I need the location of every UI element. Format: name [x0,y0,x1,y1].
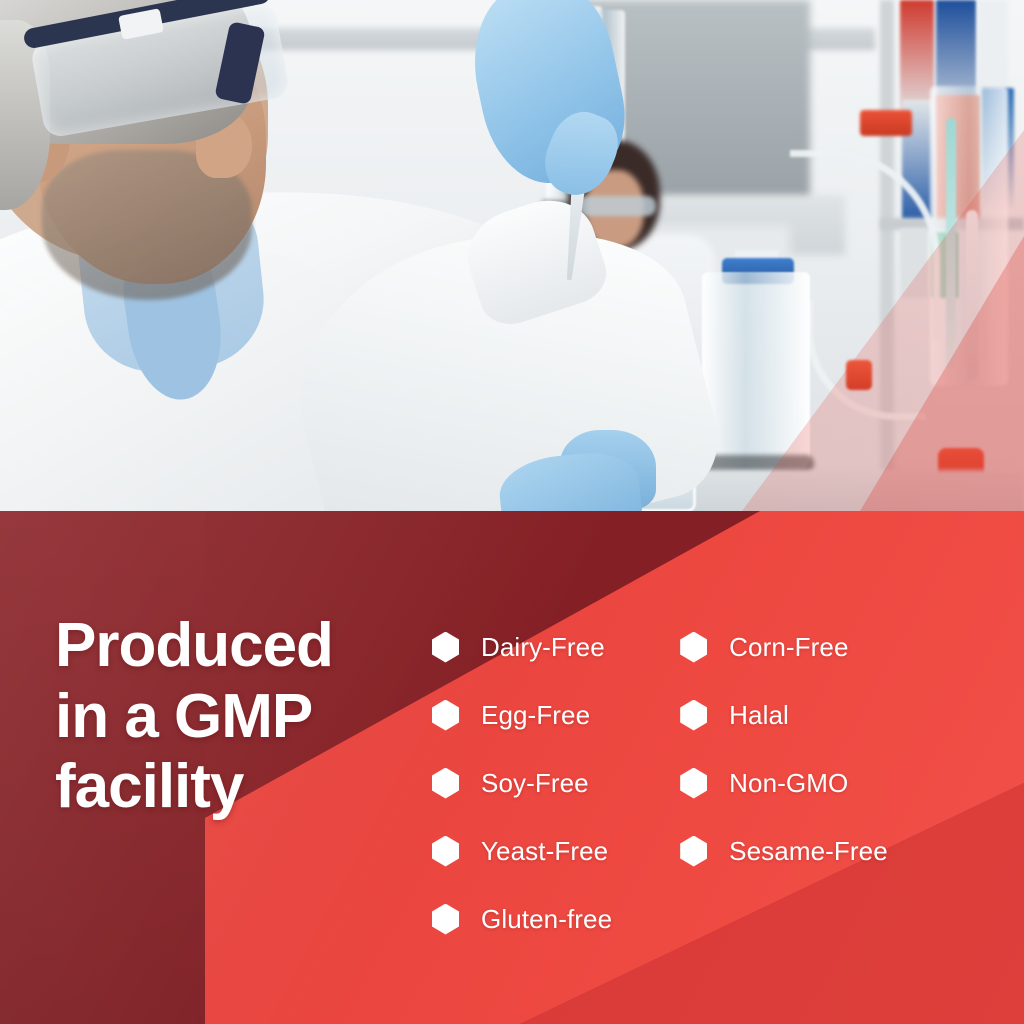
hexagon-bullet-icon [680,700,707,731]
list-item: Dairy-Free [432,613,612,681]
headline-line-2: in a GMP [55,682,415,753]
list-item: Halal [680,681,888,749]
hexagon-bullet-icon [432,768,459,799]
list-item: Non-GMO [680,749,888,817]
list-item: Sesame-Free [680,817,888,885]
certification-column-left: Dairy-Free Egg-Free Soy-Free Yeast-Free … [432,613,612,953]
hexagon-bullet-icon [432,700,459,731]
list-item-label: Yeast-Free [481,836,608,867]
list-item-label: Halal [729,700,789,731]
list-item: Soy-Free [432,749,612,817]
female-scientist-goggles-icon [578,196,656,216]
list-item-label: Gluten-free [481,904,612,935]
list-item-label: Corn-Free [729,632,848,663]
list-item: Egg-Free [432,681,612,749]
list-item-label: Non-GMO [729,768,848,799]
red-cap-bottle-top [860,110,912,136]
page-title: Produced in a GMP facility [55,611,415,823]
red-info-panel: Produced in a GMP facility Dairy-Free Eg… [0,511,1024,1024]
certification-column-right: Corn-Free Halal Non-GMO Sesame-Free [680,613,888,953]
headline-line-3: facility [55,752,415,823]
hexagon-bullet-icon [432,632,459,663]
hexagon-bullet-icon [432,836,459,867]
list-item-label: Soy-Free [481,768,589,799]
hexagon-bullet-icon [680,836,707,867]
list-item-label: Sesame-Free [729,836,888,867]
list-item: Yeast-Free [432,817,612,885]
certification-lists: Dairy-Free Egg-Free Soy-Free Yeast-Free … [432,613,888,953]
list-item: Gluten-free [432,885,612,953]
lab-photo [0,0,1024,511]
list-item: Corn-Free [680,613,888,681]
hexagon-bullet-icon [680,768,707,799]
hexagon-bullet-icon [432,904,459,935]
list-item-label: Dairy-Free [481,632,605,663]
list-item-label: Egg-Free [481,700,590,731]
reagent-bottle [702,272,810,470]
hexagon-bullet-icon [680,632,707,663]
promo-graphic: Produced in a GMP facility Dairy-Free Eg… [0,0,1024,1024]
headline-line-1: Produced [55,611,415,682]
